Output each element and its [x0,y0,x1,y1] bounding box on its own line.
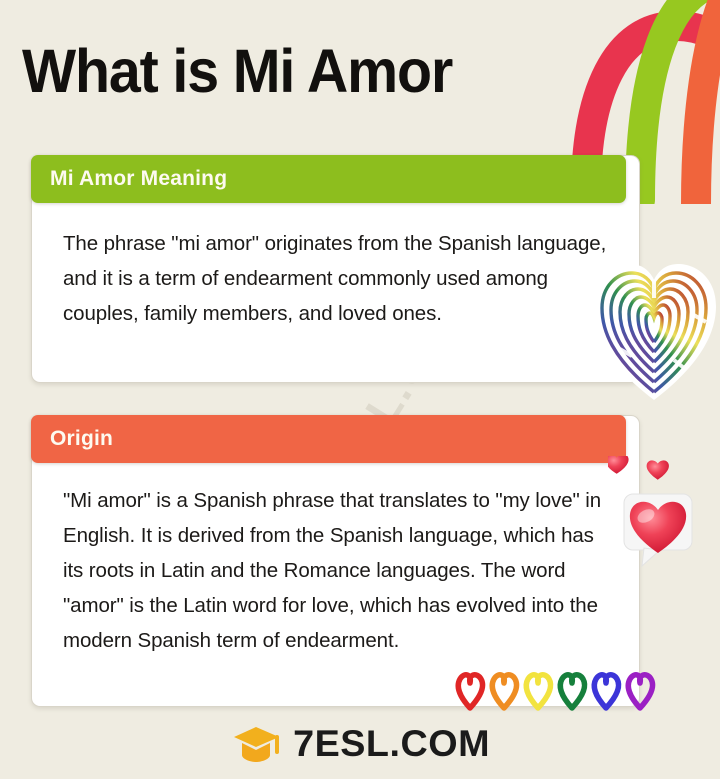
card-header-meaning: Mi Amor Meaning [31,155,626,203]
card-body-text: The phrase "mi amor" originates from the… [63,226,615,331]
footer-logo[interactable]: 7ESL.COM [0,718,720,770]
card-header-label: Mi Amor Meaning [50,167,227,191]
card-origin: Origin "Mi amor" is a Spanish phrase tha… [31,415,640,707]
graduation-cap-icon [232,723,284,765]
infographic-poster: 7ESL.COM What is Mi Amor Mi Amor Meaning… [0,0,720,779]
page-title: What is Mi Amor [22,36,452,106]
card-header-origin: Origin [31,415,626,463]
card-mi-amor-meaning: Mi Amor Meaning The phrase "mi amor" ori… [31,155,640,383]
card-body-meaning: The phrase "mi amor" originates from the… [32,204,639,331]
brand-name: 7ESL.COM [293,723,490,765]
card-body-text: "Mi amor" is a Spanish phrase that trans… [63,483,615,658]
card-body-origin: "Mi amor" is a Spanish phrase that trans… [32,464,639,658]
card-header-label: Origin [50,427,113,451]
